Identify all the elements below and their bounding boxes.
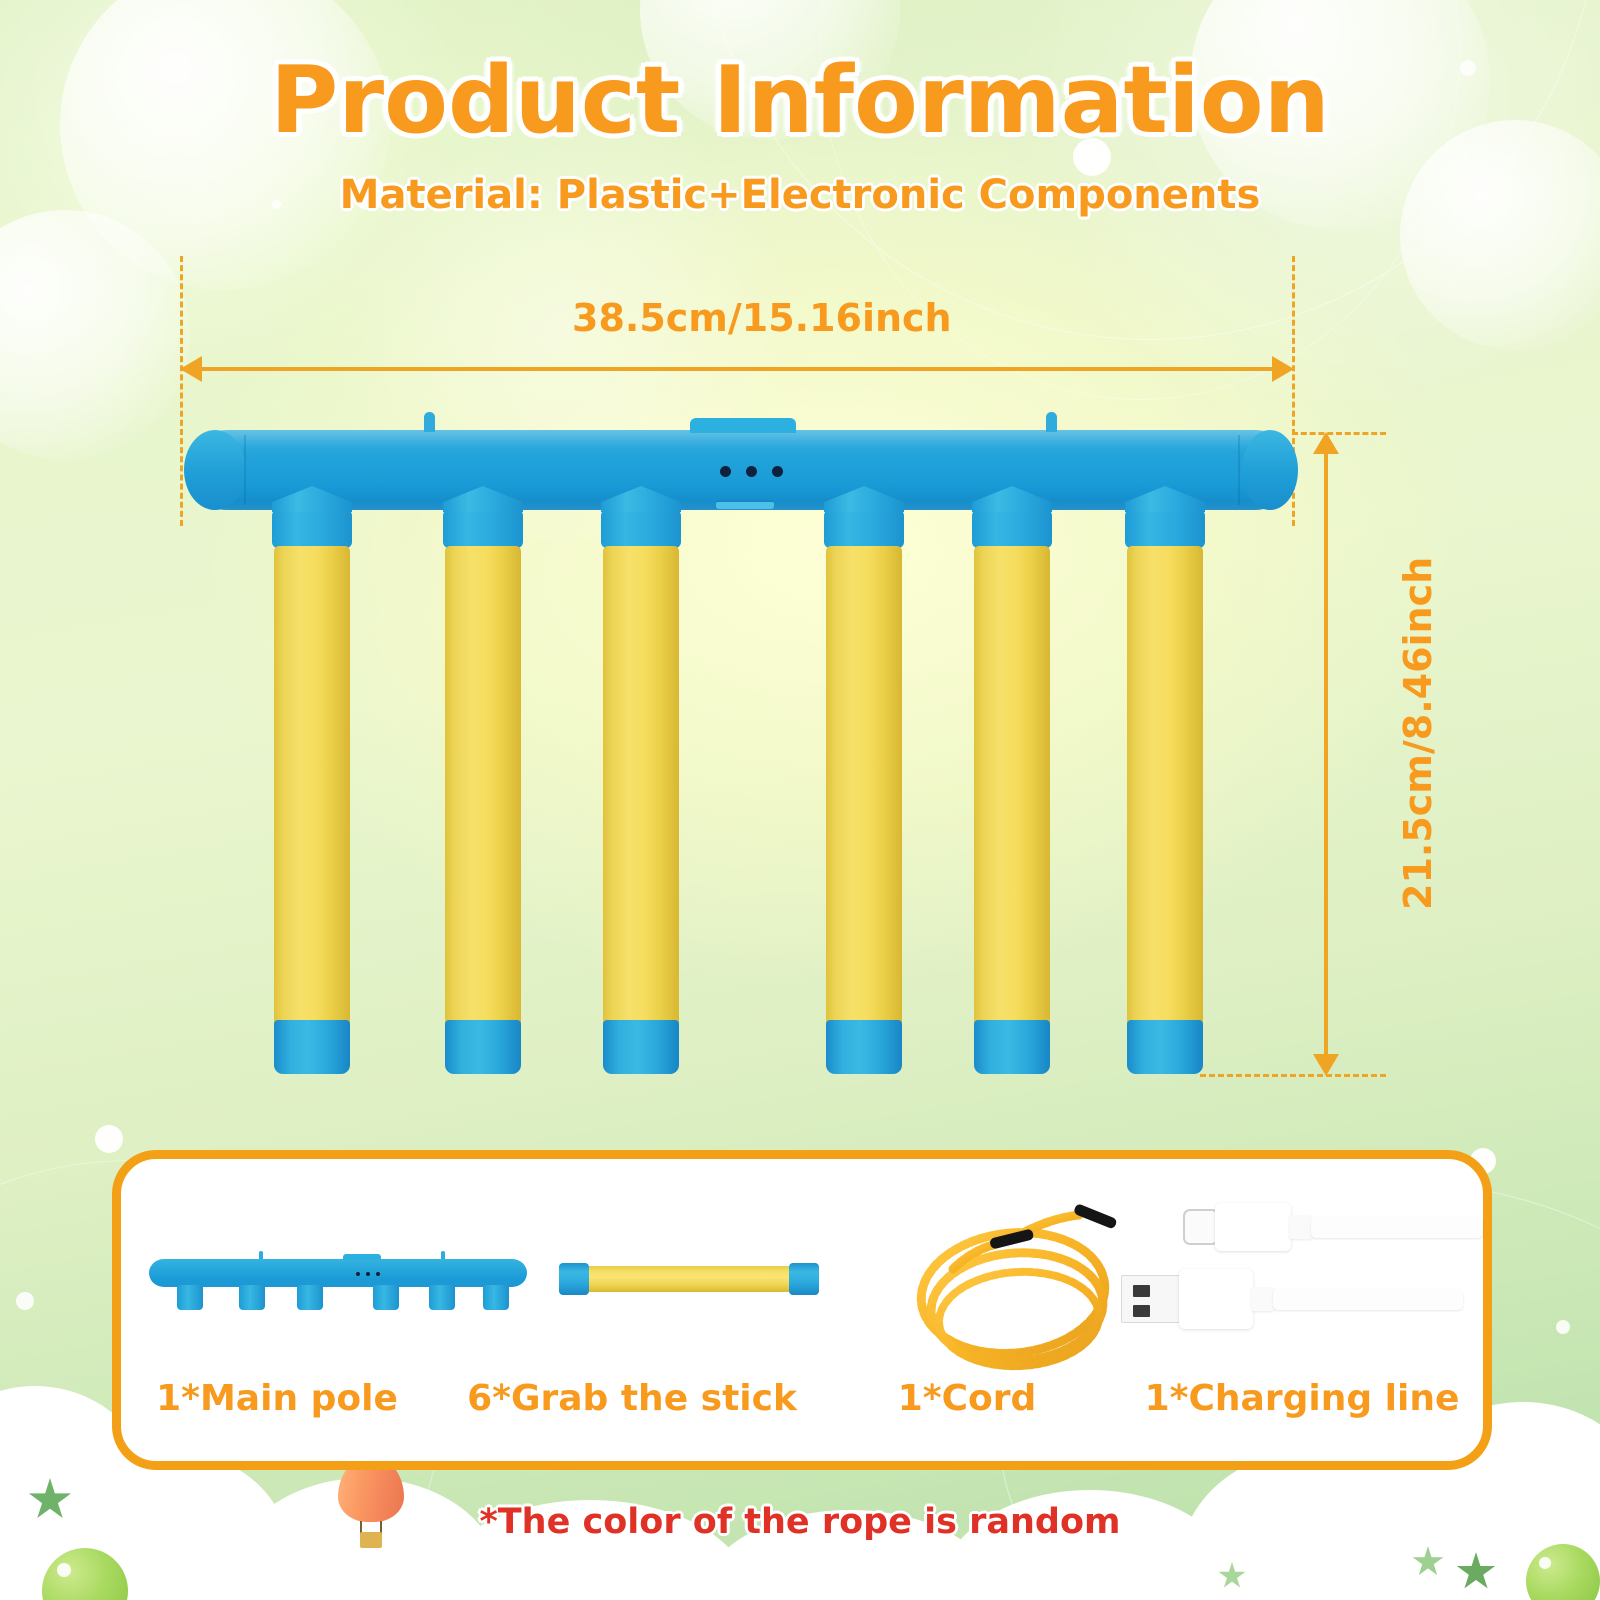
height-top-guide bbox=[1292, 432, 1386, 435]
grab-stick bbox=[974, 546, 1050, 1028]
main-pole-body bbox=[186, 430, 1296, 510]
stick-socket bbox=[272, 508, 352, 548]
page-title: Product Information bbox=[0, 52, 1600, 150]
width-arrow-right bbox=[1272, 356, 1294, 382]
rope-color-footnote: *The color of the rope is random bbox=[0, 1502, 1600, 1542]
main-pole-nub-right bbox=[1046, 412, 1057, 432]
grab-stick bbox=[603, 546, 679, 1028]
material-subtitle: Material: Plastic+Electronic Components bbox=[0, 172, 1600, 218]
star-icon bbox=[1412, 1546, 1444, 1578]
part-label-cord: 1*Cord bbox=[822, 1378, 1112, 1419]
part-label-charging-line: 1*Charging line bbox=[1112, 1378, 1492, 1419]
width-arrow-left bbox=[180, 356, 202, 382]
green-ball-decoration bbox=[42, 1548, 128, 1600]
main-pole-slot bbox=[716, 500, 774, 509]
led-indicator-dot bbox=[720, 466, 731, 477]
grab-stick-cap bbox=[603, 1020, 679, 1074]
green-ball-decoration bbox=[1526, 1544, 1600, 1600]
width-dimension-label: 38.5cm/15.16inch bbox=[572, 296, 952, 340]
stick-socket bbox=[972, 508, 1052, 548]
grab-stick-cap bbox=[974, 1020, 1050, 1074]
led-indicator-dot bbox=[746, 466, 757, 477]
stick-socket bbox=[824, 508, 904, 548]
star-icon bbox=[1218, 1562, 1246, 1590]
main-pole-nub-left bbox=[424, 412, 435, 432]
part-label-grab-stick: 6*Grab the stick bbox=[442, 1378, 822, 1419]
left-dimension-guide bbox=[180, 256, 183, 526]
stick-socket bbox=[443, 508, 523, 548]
grab-stick bbox=[1127, 546, 1203, 1028]
height-arrow-up bbox=[1313, 432, 1339, 454]
grab-stick bbox=[274, 546, 350, 1028]
grab-stick-cap bbox=[1127, 1020, 1203, 1074]
grab-stick-cap bbox=[445, 1020, 521, 1074]
height-arrow-down bbox=[1313, 1054, 1339, 1076]
grab-stick bbox=[445, 546, 521, 1028]
star-icon bbox=[1456, 1552, 1496, 1592]
parts-label-row: 1*Main pole 6*Grab the stick 1*Cord 1*Ch… bbox=[112, 1378, 1492, 1419]
page-header: Product Information Material: Plastic+El… bbox=[0, 52, 1600, 218]
height-bottom-guide bbox=[1200, 1074, 1386, 1077]
height-dimension-line bbox=[1324, 450, 1328, 1056]
grab-stick-cap bbox=[274, 1020, 350, 1074]
stick-socket bbox=[1125, 508, 1205, 548]
grab-stick bbox=[826, 546, 902, 1028]
part-label-main-pole: 1*Main pole bbox=[112, 1378, 442, 1419]
width-dimension-line bbox=[198, 367, 1278, 371]
product-info-page: Product Information Material: Plastic+El… bbox=[0, 0, 1600, 1600]
height-dimension-label: 21.5cm/8.46inch bbox=[1396, 557, 1440, 910]
led-indicator-dot bbox=[772, 466, 783, 477]
parts-list-panel bbox=[112, 1150, 1492, 1470]
grab-stick-cap bbox=[826, 1020, 902, 1074]
main-pole-top-tab bbox=[690, 418, 796, 433]
stick-socket bbox=[601, 508, 681, 548]
